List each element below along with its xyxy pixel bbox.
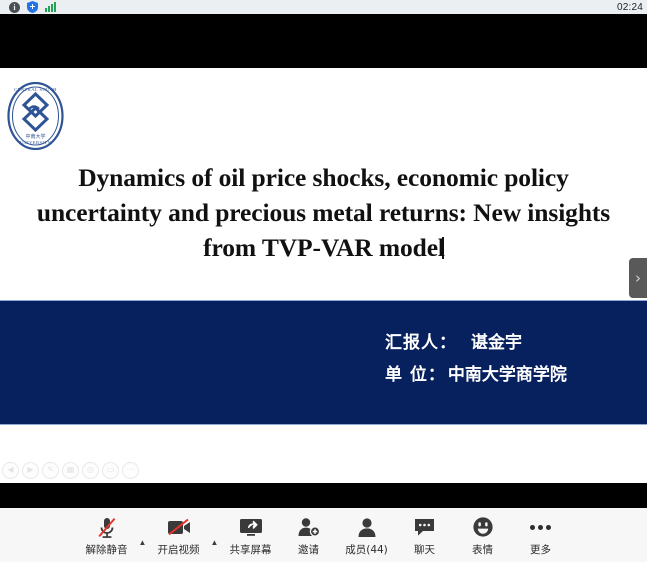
next-slide-icon[interactable]: ▶ — [22, 462, 39, 479]
presenter-name: 谌金宇 — [471, 333, 522, 353]
more-dots-icon — [530, 515, 551, 539]
slide-title-text: Dynamics of oil price shocks, economic p… — [37, 163, 610, 262]
invite-person-icon — [297, 515, 321, 539]
toolbar-item-share-screen[interactable]: 共享屏幕 — [222, 515, 280, 557]
university-logo-icon: CENTRAL SOUTH UNIVERSITY 中南大学 — [7, 82, 64, 150]
affiliation-label: 单 位： — [385, 365, 446, 385]
affiliation-line: 单 位：中南大学商学院 — [385, 359, 567, 391]
more-tools-icon[interactable]: ··· — [122, 462, 139, 479]
toolbar-item-invite[interactable]: 邀请 — [280, 515, 338, 557]
panel-expand-handle[interactable]: › — [629, 258, 647, 298]
chat-bubble-icon — [413, 515, 436, 539]
svg-text:中南大学: 中南大学 — [25, 133, 45, 140]
shared-slide[interactable]: CENTRAL SOUTH UNIVERSITY 中南大学 Dynamics o… — [0, 68, 647, 483]
presenter-label: 汇报人： — [385, 333, 457, 353]
microphone-muted-icon — [96, 515, 118, 539]
slide-title: Dynamics of oil price shocks, economic p… — [22, 160, 625, 265]
toolbar-item-more[interactable]: 更多 — [512, 515, 570, 557]
toolbar-label-reactions: 表情 — [472, 542, 493, 557]
toolbar-label-invite: 邀请 — [298, 542, 319, 557]
toolbar-label-unmute: 解除静音 — [86, 542, 128, 557]
smiley-face-icon — [472, 515, 494, 539]
share-screen-icon — [238, 515, 264, 539]
meeting-video-stage[interactable]: CENTRAL SOUTH UNIVERSITY 中南大学 Dynamics o… — [0, 14, 647, 508]
participants-icon — [356, 515, 378, 539]
slide-presenter-band: 汇报人：谌金宇 单 位：中南大学商学院 — [0, 300, 647, 425]
pen-tool-icon[interactable]: ✎ — [42, 462, 59, 479]
text-caret — [442, 237, 444, 259]
toolbar-item-start-video[interactable]: 开启视频 — [150, 515, 208, 557]
affiliation-name: 中南大学商学院 — [448, 365, 567, 385]
toolbar-label-share-screen: 共享屏幕 — [230, 542, 272, 557]
prev-slide-icon[interactable]: ◀ — [2, 462, 19, 479]
svg-text:UNIVERSITY: UNIVERSITY — [20, 140, 52, 145]
toolbar-item-chat[interactable]: 聊天 — [396, 515, 454, 557]
toolbar-label-participants: 成员(44) — [345, 542, 388, 557]
toolbar-item-reactions[interactable]: 表情 — [454, 515, 512, 557]
video-off-icon — [166, 515, 192, 539]
pointer-tool-icon[interactable]: ▦ — [62, 462, 79, 479]
ppt-presenter-controls[interactable]: ◀ ▶ ✎ ▦ ◎ ▭ ··· — [2, 462, 139, 479]
status-bar-clock: 02:24 — [617, 2, 643, 13]
shield-plus-icon — [27, 1, 38, 13]
toolbar-item-unmute[interactable]: 解除静音 — [78, 515, 136, 557]
toolbar-item-participants[interactable]: 成员(44) — [338, 515, 396, 557]
signal-bars-icon — [45, 2, 56, 12]
notes-tool-icon[interactable]: ▭ — [102, 462, 119, 479]
status-bar-clock-wrap: 02:24 — [617, 2, 644, 13]
presenter-info: 汇报人：谌金宇 单 位：中南大学商学院 — [385, 327, 567, 391]
toolbar-label-more: 更多 — [530, 542, 551, 557]
audio-options-caret-icon[interactable]: ▲ — [136, 539, 150, 547]
svg-text:CENTRAL SOUTH: CENTRAL SOUTH — [14, 87, 57, 92]
meeting-toolbar: 解除静音 ▲ 开启视频 ▲ 共享屏幕 — [0, 508, 647, 562]
status-bar-icons: i — [3, 1, 56, 13]
android-status-bar: i 02:24 — [0, 0, 647, 14]
toolbar-label-start-video: 开启视频 — [158, 542, 200, 557]
presenter-line: 汇报人：谌金宇 — [385, 327, 567, 359]
zoom-tool-icon[interactable]: ◎ — [82, 462, 99, 479]
info-icon: i — [9, 2, 20, 13]
video-options-caret-icon[interactable]: ▲ — [208, 539, 222, 547]
toolbar-label-chat: 聊天 — [414, 542, 435, 557]
